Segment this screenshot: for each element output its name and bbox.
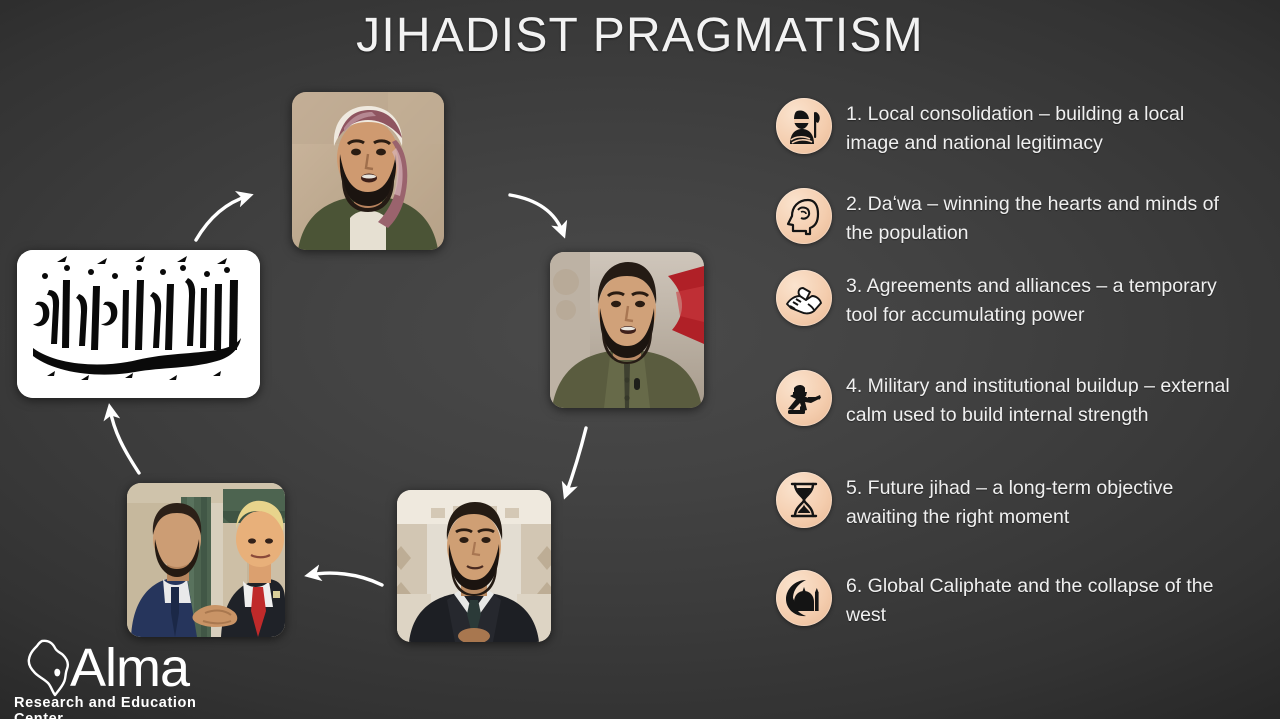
list-item-text: 1. Local consolidation – building a loca… (846, 98, 1236, 158)
arrow-olive-to-suit (566, 428, 586, 494)
list-item: 6. Global Caliphate and the collapse of … (776, 570, 1236, 630)
arrow-suit-to-handshake (310, 573, 382, 585)
list-item: 5. Future jihad – a long-term objective … (776, 472, 1236, 532)
logo-subtitle: Research and Education Center (14, 695, 248, 719)
page-title: JIHADIST PRAGMATISM (0, 8, 1280, 63)
list-item: 3. Agreements and alliances – a temporar… (776, 270, 1236, 330)
list-item-text: 3. Agreements and alliances – a temporar… (846, 270, 1236, 330)
hourglass-icon (776, 472, 832, 528)
portrait-illustration (292, 92, 444, 250)
logo-wordmark: Alma (70, 637, 189, 699)
photo-leader-turban (292, 92, 444, 250)
arrow-turban-to-olive (510, 195, 563, 233)
list-item-text: 5. Future jihad – a long-term objective … (846, 472, 1236, 532)
handshake-icon (776, 270, 832, 326)
soldier-with-rifle-icon (776, 370, 832, 426)
shahada-calligraphy (17, 250, 260, 398)
portrait-illustration (550, 252, 704, 408)
handshake-photo-illustration (127, 483, 285, 637)
list-item-text: 2. Daʻwa – winning the hearts and minds … (846, 188, 1236, 248)
photo-leader-dark-suit (397, 490, 551, 642)
arrow-flag-to-turban (196, 196, 248, 240)
slide-root: JIHADIST PRAGMATISM (0, 0, 1280, 719)
arrow-handshake-to-flag (110, 409, 139, 473)
head-brain-icon (776, 188, 832, 244)
list-item: 1. Local consolidation – building a loca… (776, 98, 1236, 158)
masked-fighter-with-banner-icon (776, 98, 832, 154)
taliban-shahada-flag (17, 250, 260, 398)
list-item-text: 6. Global Caliphate and the collapse of … (846, 570, 1236, 630)
list-item-text: 4. Military and institutional buildup – … (846, 370, 1236, 430)
alma-logo: Alma Research and Education Center (8, 643, 248, 719)
list-item: 4. Military and institutional buildup – … (776, 370, 1236, 430)
mosque-crescent-icon (776, 570, 832, 626)
portrait-illustration (397, 490, 551, 642)
photo-handshake-oval-office (127, 483, 285, 637)
photo-leader-olive-shirt (550, 252, 704, 408)
list-item: 2. Daʻwa – winning the hearts and minds … (776, 188, 1236, 248)
